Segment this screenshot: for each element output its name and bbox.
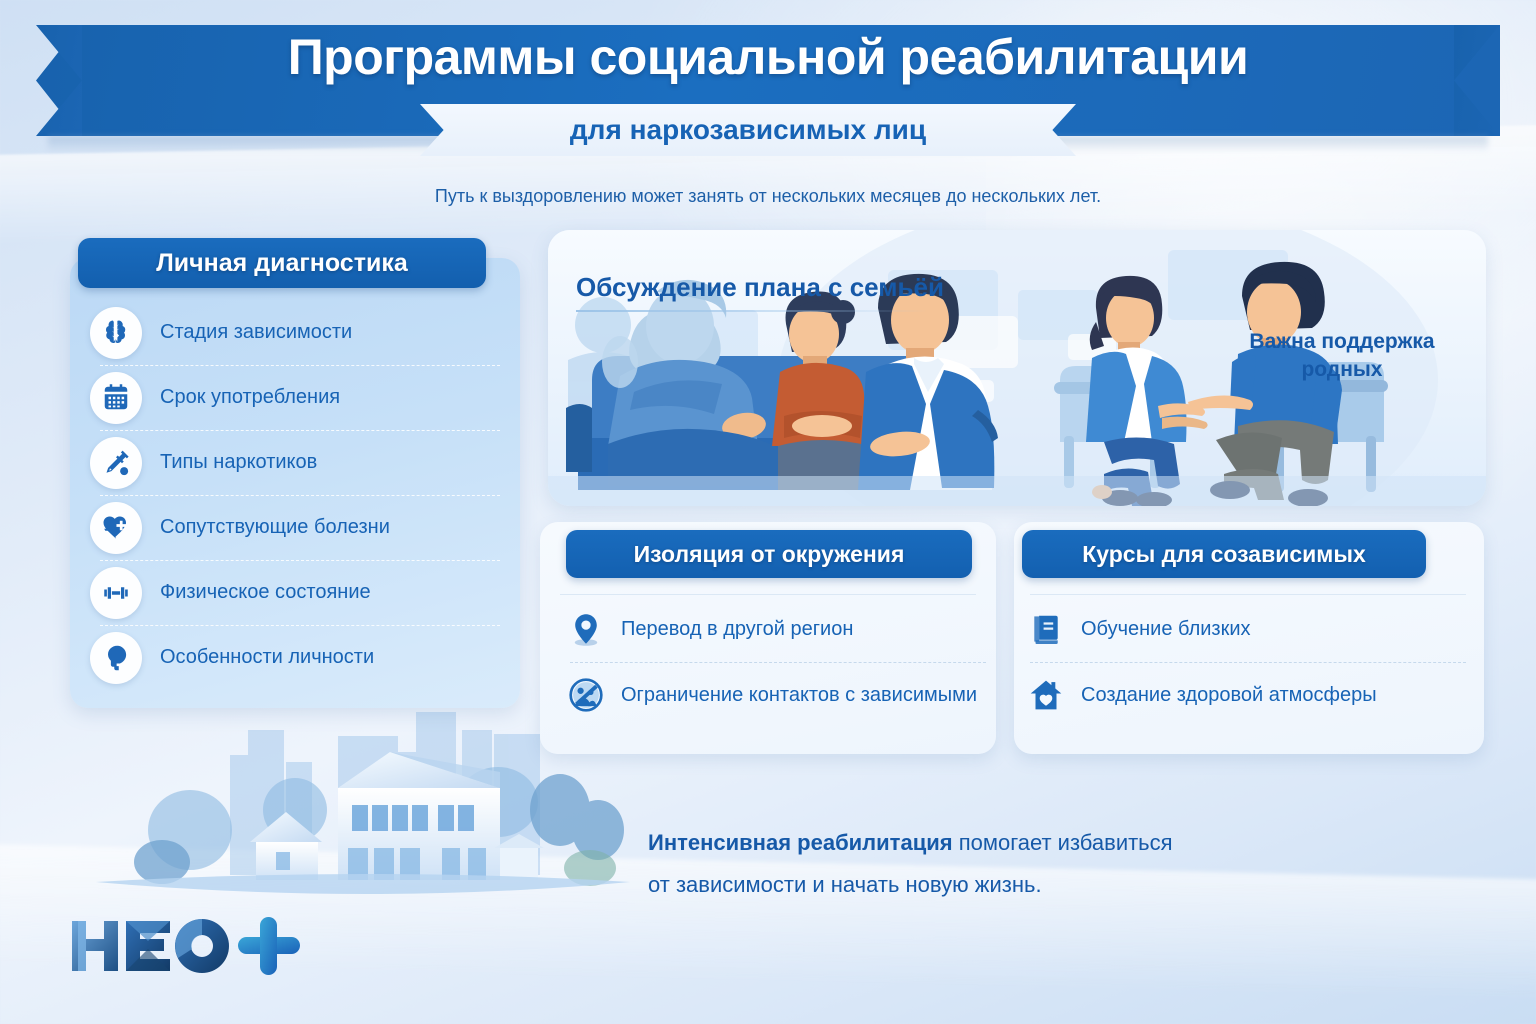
list-item-label: Стадия зависимости xyxy=(160,321,352,344)
dumbbell-icon xyxy=(90,567,142,619)
page-title: Программы социальной реабилитации xyxy=(0,28,1536,86)
head-profile-icon xyxy=(90,632,142,684)
footer-line2: от зависимости и начать новую жизнь. xyxy=(648,864,1348,906)
house-heart-icon xyxy=(1026,675,1066,715)
list-item-label: Ограничение контактов с зависимыми xyxy=(621,684,977,707)
illustration-note: Важна поддержка родных xyxy=(1222,328,1462,385)
page-subtitle: для наркозависимых лиц xyxy=(420,104,1076,156)
list-item[interactable]: Срок употребления xyxy=(90,365,510,430)
list-item[interactable]: Перевод в другой регион xyxy=(566,596,986,662)
no-contact-icon xyxy=(566,675,606,715)
isolation-card-list: Перевод в другой регион Ограничение конт… xyxy=(566,596,986,728)
illustration-title-rule xyxy=(576,310,928,312)
list-item[interactable]: Особенности личности xyxy=(90,625,510,690)
list-item-label: Типы наркотиков xyxy=(160,451,317,474)
list-item-label: Особенности личности xyxy=(160,646,374,669)
list-item-label: Перевод в другой регион xyxy=(621,618,853,641)
personal-diagnostics-list: Стадия зависимости Срок употребления Тип… xyxy=(90,300,510,690)
location-pin-icon xyxy=(566,609,606,649)
list-item[interactable]: Создание здоровой атмосферы xyxy=(1026,662,1466,728)
book-icon xyxy=(1026,609,1066,649)
illustration-title: Обсуждение плана с семьёй xyxy=(576,272,944,303)
personal-diagnostics-header: Личная диагностика xyxy=(78,238,486,288)
list-item-label: Физическое состояние xyxy=(160,581,371,604)
list-item-label: Сопутствующие болезни xyxy=(160,516,390,539)
list-item[interactable]: Обучение близких xyxy=(1026,596,1466,662)
brain-icon xyxy=(90,307,142,359)
intro-text: Путь к выздоровлению может занять от нес… xyxy=(0,186,1536,207)
codependent-courses-header: Курсы для созависимых xyxy=(1022,530,1426,578)
list-item[interactable]: Физическое состояние xyxy=(90,560,510,625)
personal-diagnostics-title: Личная диагностика xyxy=(156,249,408,278)
codependent-courses-title: Курсы для созависимых xyxy=(1082,541,1366,568)
footer-bold-part: Интенсивная реабилитация xyxy=(648,830,953,855)
courses-card-divider xyxy=(1030,594,1466,595)
list-item[interactable]: Стадия зависимости xyxy=(90,300,510,365)
list-item-label: Срок употребления xyxy=(160,386,340,409)
list-item[interactable]: Сопутствующие болезни xyxy=(90,495,510,560)
syringe-icon xyxy=(90,437,142,489)
list-item-label: Создание здоровой атмосферы xyxy=(1081,684,1377,707)
list-item-label: Обучение близких xyxy=(1081,618,1251,641)
isolation-card-header: Изоляция от окружения xyxy=(566,530,972,578)
footer-statement: Интенсивная реабилитация помогает избави… xyxy=(648,822,1348,906)
isolation-card-title: Изоляция от окружения xyxy=(634,541,905,568)
codependent-courses-list: Обучение близких Создание здоровой атмос… xyxy=(1026,596,1466,728)
isolation-card-divider xyxy=(560,594,976,595)
calendar-icon xyxy=(90,372,142,424)
neo-plus-logo xyxy=(66,915,306,977)
list-item[interactable]: Ограничение контактов с зависимыми xyxy=(566,662,986,728)
heart-plus-icon xyxy=(90,502,142,554)
list-item[interactable]: Типы наркотиков xyxy=(90,430,510,495)
footer-rest-line1: помогает избавиться xyxy=(953,830,1173,855)
